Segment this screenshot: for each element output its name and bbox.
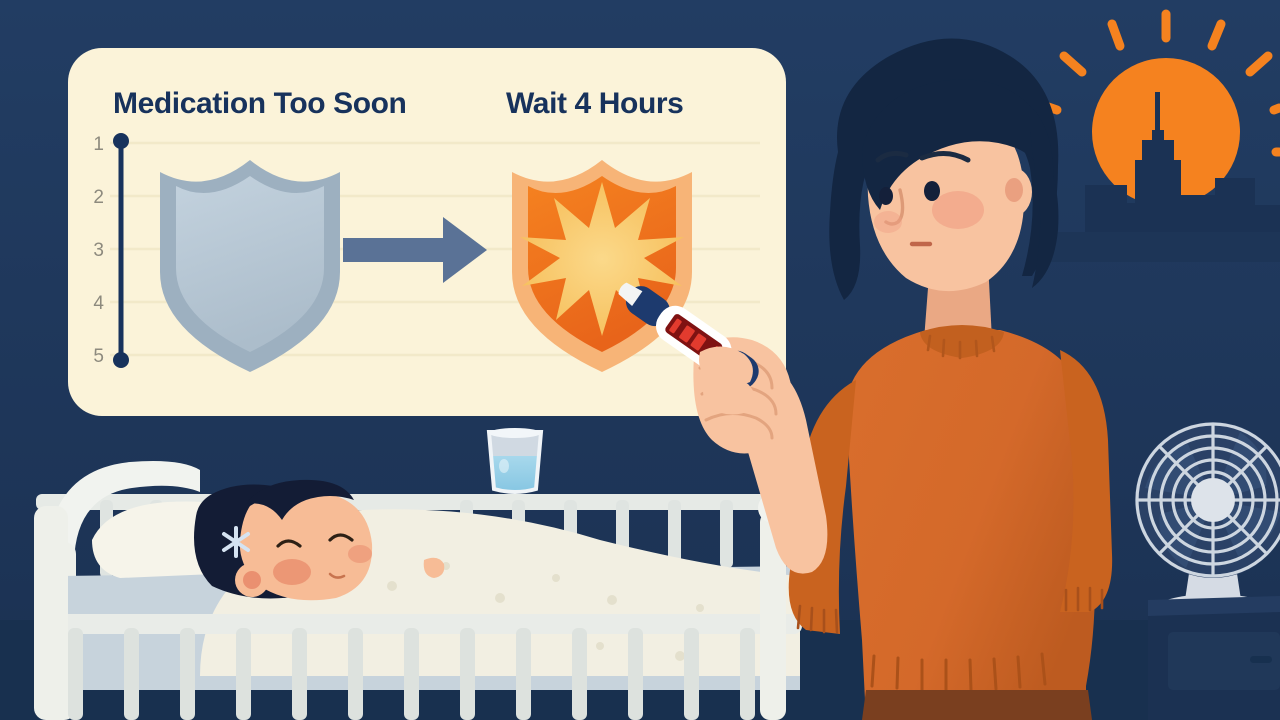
axis-tick-1: 1: [93, 134, 104, 155]
child-ear-inner: [243, 571, 261, 589]
axis-dot-bottom: [113, 352, 129, 368]
parent-eye-right: [924, 181, 940, 201]
panel-left-title: Medication Too Soon: [113, 87, 406, 120]
parent-trousers: [862, 690, 1092, 720]
child-cheek-left: [273, 559, 311, 585]
scene-svg: 1 2 3 4 5 Medication Too Soon Wait 4 Hou…: [0, 0, 1280, 720]
drawer-handle: [1250, 656, 1272, 663]
illustration-scene: 1 2 3 4 5 Medication Too Soon Wait 4 Hou…: [0, 0, 1280, 720]
axis-tick-4: 4: [93, 293, 104, 314]
instruction-card: 1 2 3 4 5 Medication Too Soon Wait 4 Hou…: [68, 48, 786, 416]
axis-dot-top: [113, 133, 129, 149]
skyline-base-mask: [1040, 232, 1280, 262]
axis-tick-3: 3: [93, 240, 104, 261]
parent-eye-left: [879, 187, 893, 205]
parent-ear-inner: [1005, 178, 1023, 202]
crib-left-post-front: [34, 506, 68, 720]
glass-highlight: [499, 459, 509, 473]
water-glass: [486, 428, 546, 500]
nightstand: [1148, 596, 1280, 720]
parent-cheek-right: [932, 191, 984, 229]
parent-cheek-left: [874, 211, 902, 233]
axis-tick-2: 2: [93, 187, 104, 208]
fan-hub: [1191, 478, 1235, 522]
child-cheek-right: [348, 545, 372, 563]
glass-rim: [489, 428, 541, 438]
panel-right-title: Wait 4 Hours: [506, 87, 683, 120]
axis-tick-5: 5: [93, 346, 104, 367]
